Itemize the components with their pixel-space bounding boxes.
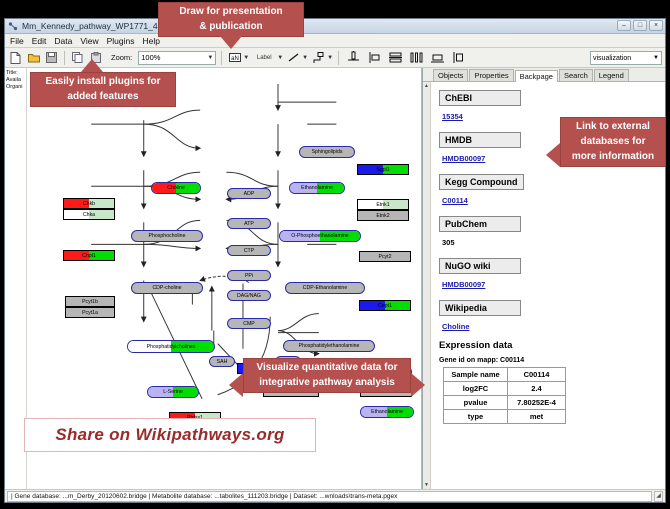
db-link-chebi[interactable]: 15354 [442,112,463,121]
table-row: Sample name C00114 [444,368,566,382]
db-link-hmdb[interactable]: HMDB00097 [442,154,485,163]
node-label: Ethanolamine [301,185,333,191]
node-label: DAG/NAG [237,293,261,299]
chevron-down-icon[interactable]: ▼ [277,55,283,61]
chevron-down-icon[interactable]: ▼ [424,482,429,488]
resize-grip-icon[interactable]: ◢ [654,491,663,502]
node-label: Phosphocholine [149,233,186,239]
status-text: | Gene database: ...m_Derby_20120602.bri… [7,491,652,502]
node-label: PPi [245,273,253,279]
callout-plugins-line1: Easily install plugins for [31,73,175,91]
node-label: Choline [167,185,185,191]
gene-pcyt1b[interactable]: Pcyt1b [65,296,115,307]
node-cdp-ethanolamine[interactable]: CDP-Ethanolamine [285,282,365,294]
db-title-kegg: Kegg Compound [439,174,524,190]
gene-chpt1[interactable]: Chpt1 [63,250,115,261]
expression-data-heading: Expression data [439,340,657,351]
stack-vertical-icon[interactable] [386,50,404,65]
tab-backpage[interactable]: Backpage [515,70,558,82]
expr-value-sample-name: C00114 [508,368,566,382]
db-link-wikipedia[interactable]: Choline [442,322,470,331]
db-title-wikipedia: Wikipedia [439,300,521,316]
menu-help[interactable]: Help [143,36,160,46]
menu-view[interactable]: View [80,36,98,46]
menu-edit[interactable]: Edit [32,36,47,46]
gene-cept1[interactable]: Cept1 [359,300,411,311]
callout-visualize-arrow-left [229,373,243,397]
node-phosphatidylcholines[interactable]: Phosphatidylcholines [127,340,215,353]
menu-bar: File Edit Data View Plugins Help [5,34,665,48]
node-adp[interactable]: ADP [227,188,271,199]
node-label: Etnk2 [376,213,389,219]
node-cmp[interactable]: CMP [227,318,271,329]
db-title-nugo: NuGO wiki [439,258,521,274]
node-ppi[interactable]: PPi [227,270,271,281]
node-label: Pcyt1b [82,299,98,305]
node-cdp-choline[interactable]: CDP-choline [131,282,203,294]
set-height-icon[interactable] [449,50,467,65]
table-row: log2FC 2.4 [444,382,566,396]
set-width-icon[interactable] [428,50,446,65]
node-label: CDP-Ethanolamine [303,285,347,291]
node-label: Cept1 [378,303,392,309]
align-top-icon[interactable] [344,50,362,65]
database-entry-nugo: NuGO wiki HMDB00097 [439,256,657,292]
callout-plugins: Easily install plugins for added feature… [30,72,176,107]
table-row: pvalue 7.80252E-4 [444,396,566,410]
database-entry-pubchem: PubChem 305 [439,214,657,250]
datanode-icon[interactable]: aN [227,50,242,65]
node-choline-top[interactable]: Choline [151,182,201,194]
db-value-pubchem: 305 [442,238,455,247]
gene-etnk2[interactable]: Etnk2 [357,210,409,221]
tab-objects[interactable]: Objects [433,69,468,81]
callout-visualize-line2: integrative pathway analysis [244,377,410,392]
chevron-up-icon[interactable]: ▲ [424,83,429,89]
panel-tabs: Objects Properties Backpage Search Legen… [423,68,665,82]
distribute-icon[interactable] [407,50,425,65]
callout-links-line3: more information [561,151,665,166]
menu-data[interactable]: Data [54,36,72,46]
node-atp[interactable]: ATP [227,218,271,229]
callout-draw-line2: & publication [159,21,303,36]
svg-text:aN: aN [231,56,239,62]
tab-properties[interactable]: Properties [469,69,513,81]
callout-draw: Draw for presentation & publication [158,2,304,37]
callout-draw-arrow [220,36,242,49]
label-tool-group[interactable]: Label ▼ [252,50,283,65]
info-title-label: Title: [6,70,25,77]
expr-value-type: met [508,410,566,424]
info-availability-label: Availa [6,77,25,84]
zoom-value: 100% [141,53,160,62]
node-ctp[interactable]: CTP [227,245,271,256]
node-ethanolamine-2[interactable]: Ethanolamine [360,406,414,418]
expr-key-sample-name: Sample name [444,368,508,382]
node-label: Chpt1 [82,253,96,259]
window-controls: – □ × [617,20,663,31]
line-tool-group[interactable]: ▼ [286,50,308,65]
database-entry-kegg: Kegg Compound C00114 [439,172,657,208]
callout-links: Link to external databases for more info… [560,117,666,167]
toolbar-separator-1 [64,51,65,65]
db-title-pubchem: PubChem [439,216,521,232]
gene-pcyt1a[interactable]: Pcyt1a [65,307,115,318]
chevron-down-icon: ▼ [207,55,213,61]
expr-value-pvalue: 7.80252E-4 [508,396,566,410]
node-label: ADP [244,191,255,197]
datanode-tool-group[interactable]: aN ▼ [227,50,249,65]
node-label: Sphingolipids [312,149,343,155]
zoom-combobox[interactable]: 100% ▼ [138,51,216,65]
callout-visualize-arrow-right [411,373,425,397]
minimize-button[interactable]: – [617,20,631,31]
callout-links-arrow [546,143,560,167]
gene-etnk1[interactable]: Etnk1 [357,199,409,210]
callout-share: Share on Wikipathways.org [24,418,316,452]
node-label: Chka [83,212,95,218]
node-l-serine-left[interactable]: L-Serine [147,386,199,398]
open-folder-icon[interactable] [26,50,41,65]
line-icon[interactable] [286,50,301,65]
chevron-down-icon[interactable]: ▼ [302,55,308,61]
floppy-disk-icon[interactable] [44,50,59,65]
gene-chka[interactable]: Chka [63,209,115,220]
zoom-label: Zoom: [111,53,132,62]
close-button[interactable]: × [649,20,663,31]
gene-id-line: Gene id on mapp: C00114 [439,357,657,364]
node-sphingolipids[interactable]: Sphingolipids [299,146,355,158]
visualization-combobox[interactable]: visualization ▼ [590,51,662,65]
maximize-button[interactable]: □ [633,20,647,31]
node-label: CMP [243,321,255,327]
callout-draw-line1: Draw for presentation [159,3,303,21]
expr-key-type: type [444,410,508,424]
node-label: CDP-choline [152,285,181,291]
menu-file[interactable]: File [10,36,24,46]
toolbar: Zoom: 100% ▼ aN ▼ Label ▼ ▼ ▼ [5,48,665,68]
node-label: CTP [244,248,254,254]
node-label: Ethanolamine [371,409,403,415]
tab-search[interactable]: Search [559,69,593,81]
tab-legend[interactable]: Legend [594,69,629,81]
db-title-chebi: ChEBI [439,90,521,106]
node-label: Etnk1 [376,202,389,208]
node-label: O-Phosphoethanolamine [291,233,348,239]
node-label: ATP [244,221,254,227]
gene-chkb[interactable]: Chkb [63,198,115,209]
callout-visualize-line1: Visualize quantitative data for [244,359,410,377]
visualization-value: visualization [593,55,631,62]
panel-splitter[interactable]: ▲ ▼ [423,82,431,489]
node-label: SAH [217,359,228,365]
pathvisio-icon [8,22,18,31]
db-link-kegg[interactable]: C00114 [442,196,468,205]
menu-plugins[interactable]: Plugins [107,36,135,46]
node-label: Phosphatidylcholines [147,344,196,350]
new-document-icon[interactable] [8,50,23,65]
title-bar: Mm_Kennedy_pathway_WP1771_45176.gpml – □… [5,19,665,34]
expression-table: Sample name C00114 log2FC 2.4 pvalue 7.8… [443,367,566,424]
callout-share-text: Share on Wikipathways.org [55,425,284,445]
callout-plugins-line2: added features [31,91,175,106]
align-left-icon[interactable] [365,50,383,65]
node-label: Sgpl1 [376,167,389,173]
gene-pcyt2[interactable]: Pcyt2 [359,251,411,262]
gene-sgpl1[interactable]: Sgpl1 [357,164,409,175]
toolbar-separator-2 [221,51,222,65]
database-entry-wikipedia: Wikipedia Choline [439,298,657,334]
callout-plugins-arrow [81,59,103,72]
interaction-tool-group[interactable]: ▼ [311,50,333,65]
node-label: Phosphatidylethanolamine [299,343,360,349]
chevron-down-icon: ▼ [653,55,659,61]
node-label: L-Serine [163,389,183,395]
node-ethanolamine-1[interactable]: Ethanolamine [289,182,345,194]
chevron-down-icon[interactable]: ▼ [327,55,333,61]
interaction-icon[interactable] [311,50,326,65]
label-icon[interactable]: Label [252,50,276,65]
toolbar-separator-3 [338,51,339,65]
expr-key-pvalue: pvalue [444,396,508,410]
node-label: Chkb [83,201,95,207]
expr-key-log2fc: log2FC [444,382,508,396]
node-label: Pcyt2 [379,254,392,260]
callout-links-line1: Link to external [561,118,665,136]
chevron-down-icon[interactable]: ▼ [243,55,249,61]
db-title-hmdb: HMDB [439,132,521,148]
node-o-phosphoethanolamine[interactable]: O-Phosphoethanolamine [279,230,361,242]
callout-visualize: Visualize quantitative data for integrat… [243,358,411,393]
status-bar: | Gene database: ...m_Derby_20120602.bri… [5,489,665,502]
table-row: type met [444,410,566,424]
node-label: Pcyt1a [82,310,98,316]
db-link-nugo[interactable]: HMDB00097 [442,280,485,289]
node-phosphocholine[interactable]: Phosphocholine [131,230,203,242]
node-sah[interactable]: SAH [209,356,235,367]
expr-value-log2fc: 2.4 [508,382,566,396]
callout-links-line2: databases for [561,136,665,151]
node-dagnag[interactable]: DAG/NAG [227,290,271,301]
info-organism-label: Organi [6,84,25,91]
node-phosphatidylethanolamine[interactable]: Phosphatidylethanolamine [283,340,375,352]
